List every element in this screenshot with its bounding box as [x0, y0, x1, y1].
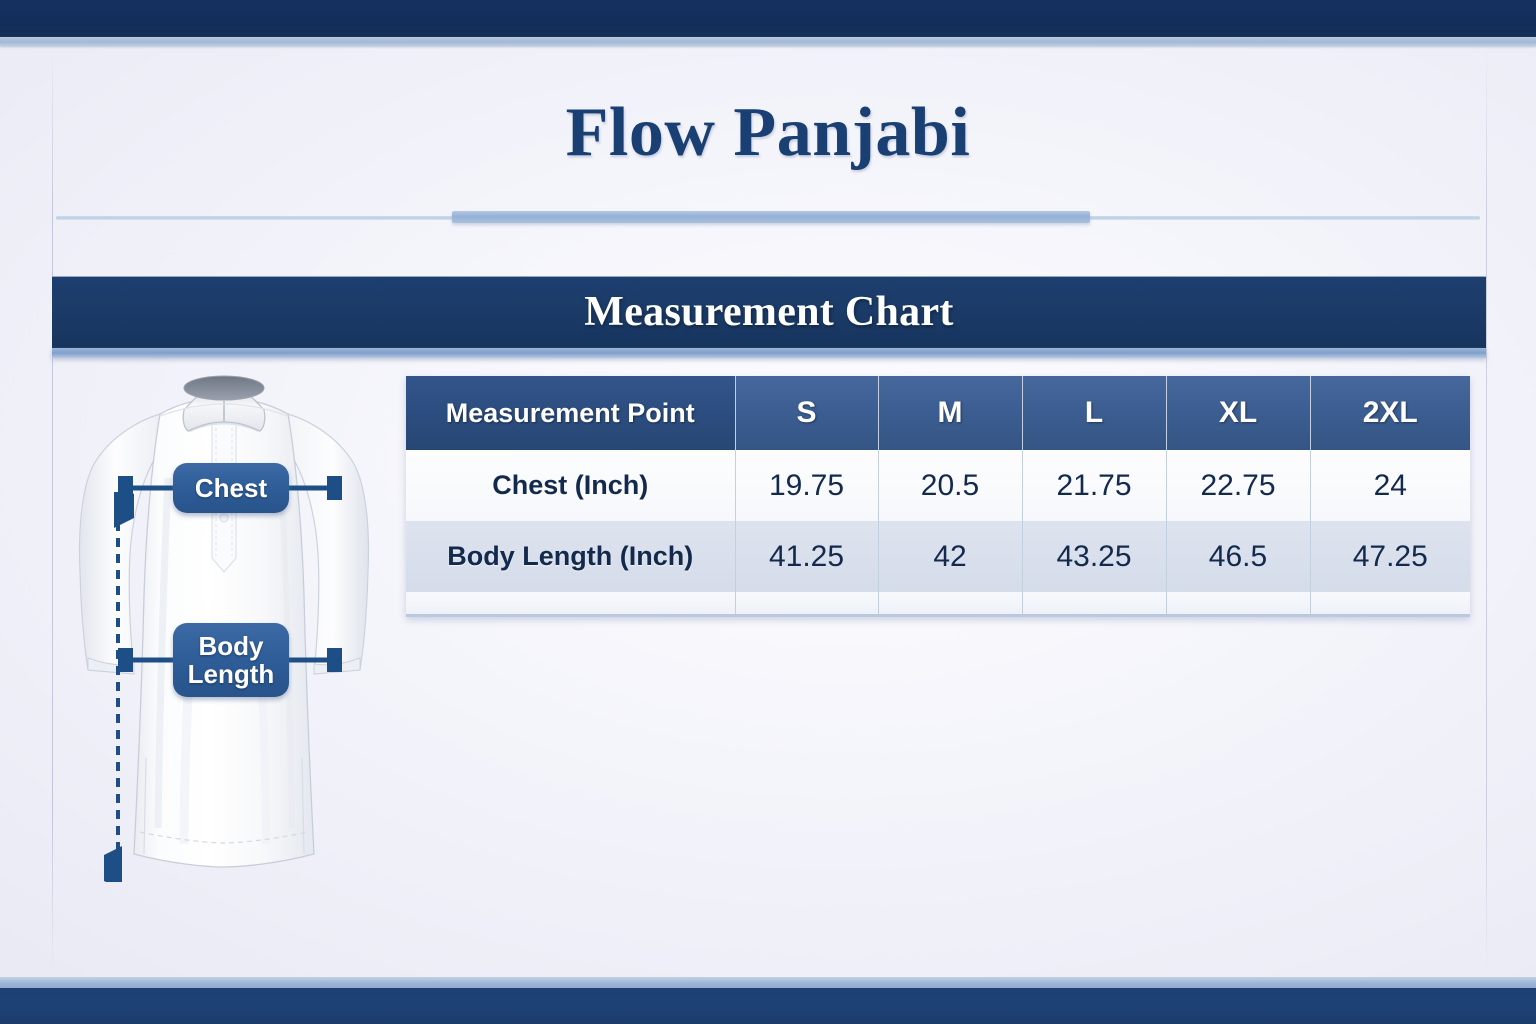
chest-label-text: Chest — [195, 474, 267, 502]
cell-chest-m: 20.5 — [878, 450, 1022, 521]
column-header-xl: XL — [1166, 376, 1310, 450]
empty-cell — [878, 592, 1022, 616]
column-header-s: S — [735, 376, 878, 450]
empty-cell — [1166, 592, 1310, 616]
title-divider-accent — [452, 211, 1090, 223]
empty-cell — [1310, 592, 1470, 616]
page-title: Flow Panjabi — [0, 93, 1536, 173]
empty-cell — [735, 592, 878, 616]
cell-chest-l: 21.75 — [1022, 450, 1166, 521]
table-header-row: Measurement Point S M L XL 2XL — [406, 376, 1470, 450]
column-header-measurement-point: Measurement Point — [406, 376, 735, 450]
cell-chest-s: 19.75 — [735, 450, 878, 521]
empty-cell — [1022, 592, 1166, 616]
column-header-m: M — [878, 376, 1022, 450]
cell-body-length-xl: 46.5 — [1166, 521, 1310, 592]
bottom-accent-strip — [0, 977, 1536, 988]
body-length-label-text: Body Length — [188, 632, 275, 688]
cell-body-length-2xl: 47.25 — [1310, 521, 1470, 592]
row-label-chest: Chest (Inch) — [406, 450, 735, 521]
size-chart-page: Flow Panjabi Measurement Chart — [0, 0, 1536, 1024]
table-row: Body Length (Inch) 41.25 42 43.25 46.5 4… — [406, 521, 1470, 592]
table-row: Chest (Inch) 19.75 20.5 21.75 22.75 24 — [406, 450, 1470, 521]
chest-label-badge: Chest — [173, 463, 289, 513]
measurement-table-wrapper: Measurement Point S M L XL 2XL Chest (In… — [406, 376, 1470, 617]
measurement-table: Measurement Point S M L XL 2XL Chest (In… — [406, 376, 1470, 617]
banner-accent-strip — [52, 348, 1486, 358]
panel-left-edge — [52, 46, 53, 978]
body-length-line-1: Body — [199, 631, 264, 661]
table-body: Chest (Inch) 19.75 20.5 21.75 22.75 24 B… — [406, 450, 1470, 616]
empty-cell — [406, 592, 735, 616]
top-navy-bar — [0, 0, 1536, 37]
panel-right-edge — [1486, 46, 1487, 978]
vertical-length-arrow — [104, 492, 134, 882]
column-header-2xl: 2XL — [1310, 376, 1470, 450]
banner-heading: Measurement Chart — [584, 288, 953, 336]
cell-body-length-m: 42 — [878, 521, 1022, 592]
body-length-line-2: Length — [188, 659, 275, 689]
cell-body-length-l: 43.25 — [1022, 521, 1166, 592]
column-header-l: L — [1022, 376, 1166, 450]
table-row-empty — [406, 592, 1470, 616]
cell-body-length-s: 41.25 — [735, 521, 878, 592]
measurement-chart-banner: Measurement Chart — [52, 276, 1486, 348]
cell-chest-2xl: 24 — [1310, 450, 1470, 521]
row-label-body-length: Body Length (Inch) — [406, 521, 735, 592]
bottom-navy-bar — [0, 988, 1536, 1024]
body-length-label-badge: Body Length — [173, 623, 289, 697]
table-header: Measurement Point S M L XL 2XL — [406, 376, 1470, 450]
top-accent-strip — [0, 37, 1536, 46]
cell-chest-xl: 22.75 — [1166, 450, 1310, 521]
